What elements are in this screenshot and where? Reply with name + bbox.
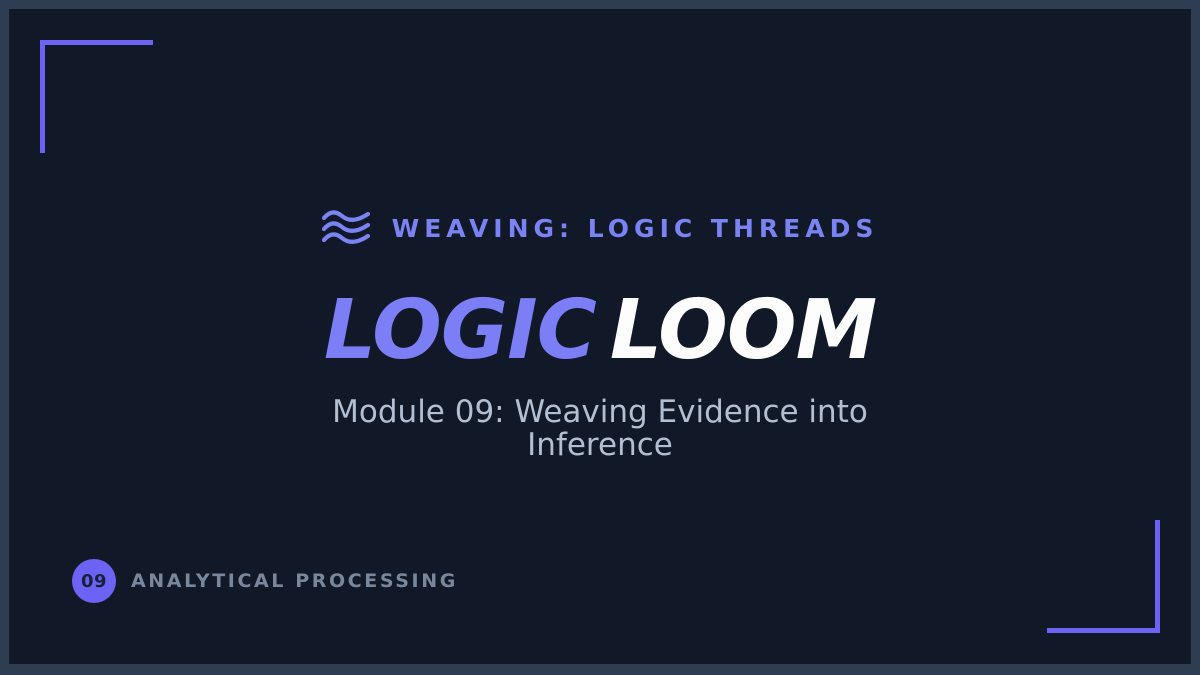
- slide-subtitle: Module 09: Weaving Evidence into Inferen…: [320, 396, 880, 463]
- footer-category-label: ANALYTICAL PROCESSING: [131, 570, 458, 592]
- slide-canvas: WEAVING: LOGIC THREADS LOGICLOOM Module …: [9, 9, 1191, 664]
- slide-footer: 09 ANALYTICAL PROCESSING: [72, 559, 458, 603]
- slide-center-content: WEAVING: LOGIC THREADS LOGICLOOM Module …: [9, 205, 1191, 463]
- eyebrow-row: WEAVING: LOGIC THREADS: [9, 205, 1191, 251]
- presentation-slide: WEAVING: LOGIC THREADS LOGICLOOM Module …: [0, 0, 1200, 675]
- brand-title: LOGICLOOM: [9, 290, 1191, 372]
- waves-icon: [322, 210, 370, 247]
- module-number-badge: 09: [72, 559, 116, 603]
- corner-bracket-bottom-right-icon: [1047, 520, 1160, 633]
- brand-title-secondary: LOOM: [610, 283, 876, 378]
- eyebrow-label: WEAVING: LOGIC THREADS: [392, 216, 879, 241]
- corner-bracket-top-left-icon: [40, 40, 153, 153]
- brand-title-primary: LOGIC: [324, 283, 596, 378]
